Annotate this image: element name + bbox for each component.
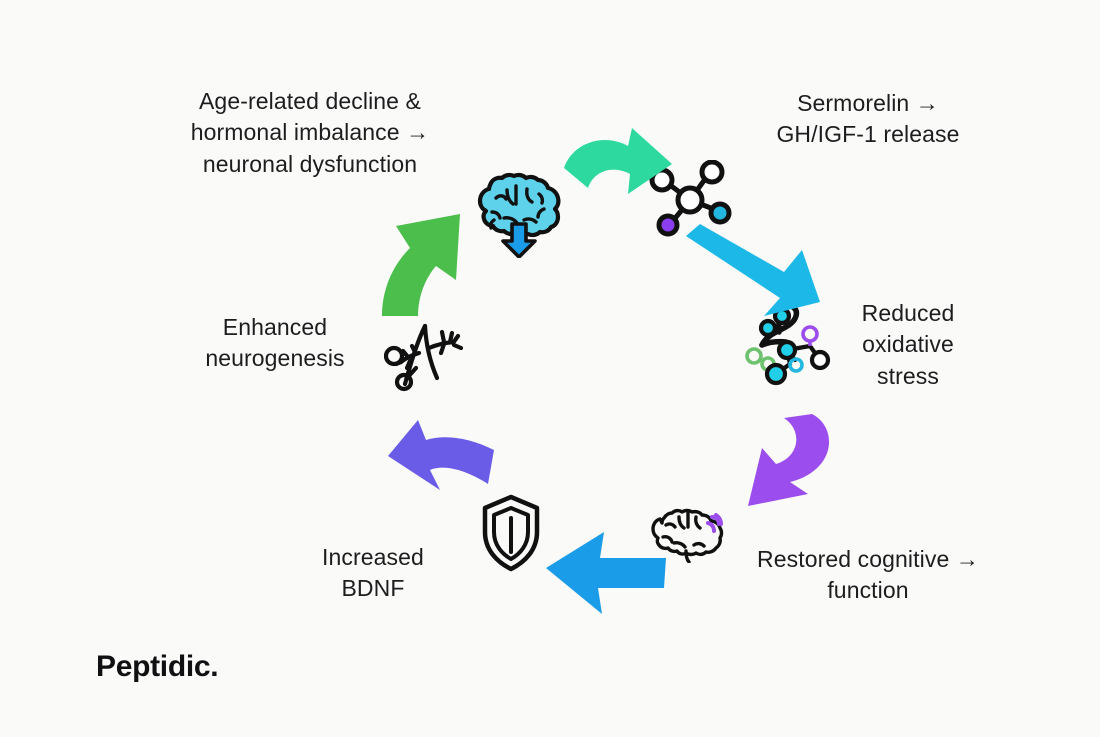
arrow-curved-up-right-icon bbox=[368, 212, 482, 316]
arrow-curved-up-left-icon bbox=[384, 412, 498, 512]
arrow-curved-right-icon bbox=[558, 122, 680, 234]
step-label-decline: Age-related decline & hormonal imbalance… bbox=[150, 86, 470, 180]
cycle-diagram: Age-related decline & hormonal imbalance… bbox=[0, 0, 1100, 737]
neuron-icon bbox=[384, 318, 470, 396]
arrow-left-icon bbox=[544, 528, 668, 614]
arrow-curved-down-left-icon bbox=[726, 412, 838, 508]
brand-logo: Peptidic. bbox=[96, 650, 218, 684]
infographic-canvas: Age-related decline & hormonal imbalance… bbox=[0, 0, 1100, 737]
step-label-neurogenesis: Enhanced neurogenesis bbox=[168, 312, 382, 375]
arrow-bent-down-right-icon bbox=[682, 222, 822, 318]
step-label-sermorelin: Sermorelin → GH/IGF-1 release bbox=[718, 88, 1018, 151]
brain-declining-icon bbox=[472, 156, 564, 258]
step-label-oxidative: Reduced oxidative stress bbox=[818, 298, 998, 392]
step-label-bdnf: Increased BDNF bbox=[268, 542, 478, 605]
step-label-cognitive: Restored cognitive → function bbox=[718, 544, 1018, 607]
